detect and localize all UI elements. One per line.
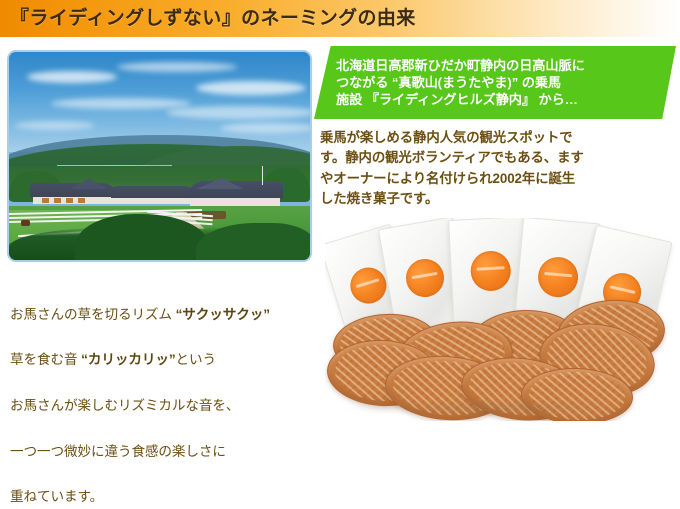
cloud-shape <box>15 121 95 130</box>
horse-figure <box>21 220 30 226</box>
package-seal-icon <box>470 250 512 292</box>
texture-line3: お馬さんが楽しむリズミカルな音を、 <box>10 398 239 413</box>
package-seal-icon <box>536 255 579 298</box>
flag-mast <box>262 166 263 185</box>
texture-description-paragraph: お馬さんの草を切るリズム “サクッサクッ” 草を食む音 “カリッカリッ”という … <box>10 281 340 509</box>
cloud-shape <box>196 81 306 95</box>
product-snack-photo <box>325 218 680 421</box>
stable-door <box>78 198 85 203</box>
stable-door <box>66 198 73 203</box>
package-seal-icon <box>403 256 447 300</box>
green-callout-banner: 北海道日高郡新ひだか町静内の日高山脈に つながる “真歌山(まうたやま)” の乗… <box>314 46 676 119</box>
section-header-banner: 『ライディングしずない』のネーミングの由来 <box>0 0 680 37</box>
cloud-shape <box>27 71 117 83</box>
texture-onomatopoeia-karikari: “カリッカリッ” <box>81 352 175 367</box>
product-shadow <box>343 399 643 417</box>
stable-door <box>42 198 49 203</box>
green-callout-text: 北海道日高郡新ひだか町静内の日高山脈に つながる “真歌山(まうたやま)” の乗… <box>314 57 599 108</box>
product-story-page: 『ライディングしずない』のネーミングの由来 <box>0 0 680 421</box>
page-title: 『ライディングしずない』のネーミングの由来 <box>0 9 416 28</box>
riding-hills-photo <box>7 50 312 262</box>
texture-line1-prefix: お馬さんの草を切るリズム <box>10 307 176 322</box>
arena-roof <box>187 181 283 198</box>
cloud-shape <box>220 123 310 133</box>
building-wall <box>111 198 189 204</box>
stable-roof <box>108 186 192 197</box>
texture-line5: 重ねています。 <box>10 489 103 504</box>
texture-line2-prefix: 草を食む音 <box>10 352 81 367</box>
stable-door <box>54 198 61 203</box>
building-wall <box>190 198 280 206</box>
cloud-shape <box>51 98 191 109</box>
stable-roof <box>30 183 117 197</box>
texture-onomatopoeia-sakusaku: “サクッサクッ” <box>176 307 270 322</box>
texture-line2-suffix: という <box>176 352 216 367</box>
texture-line4: 一つ一つ微妙に違う食感の楽しさに <box>10 444 226 459</box>
photo-scene <box>9 52 310 260</box>
origin-description-paragraph: 乗馬が楽しめる静内人気の観光スポットで す。静内の観光ボランティアでもある、ます… <box>320 128 672 210</box>
